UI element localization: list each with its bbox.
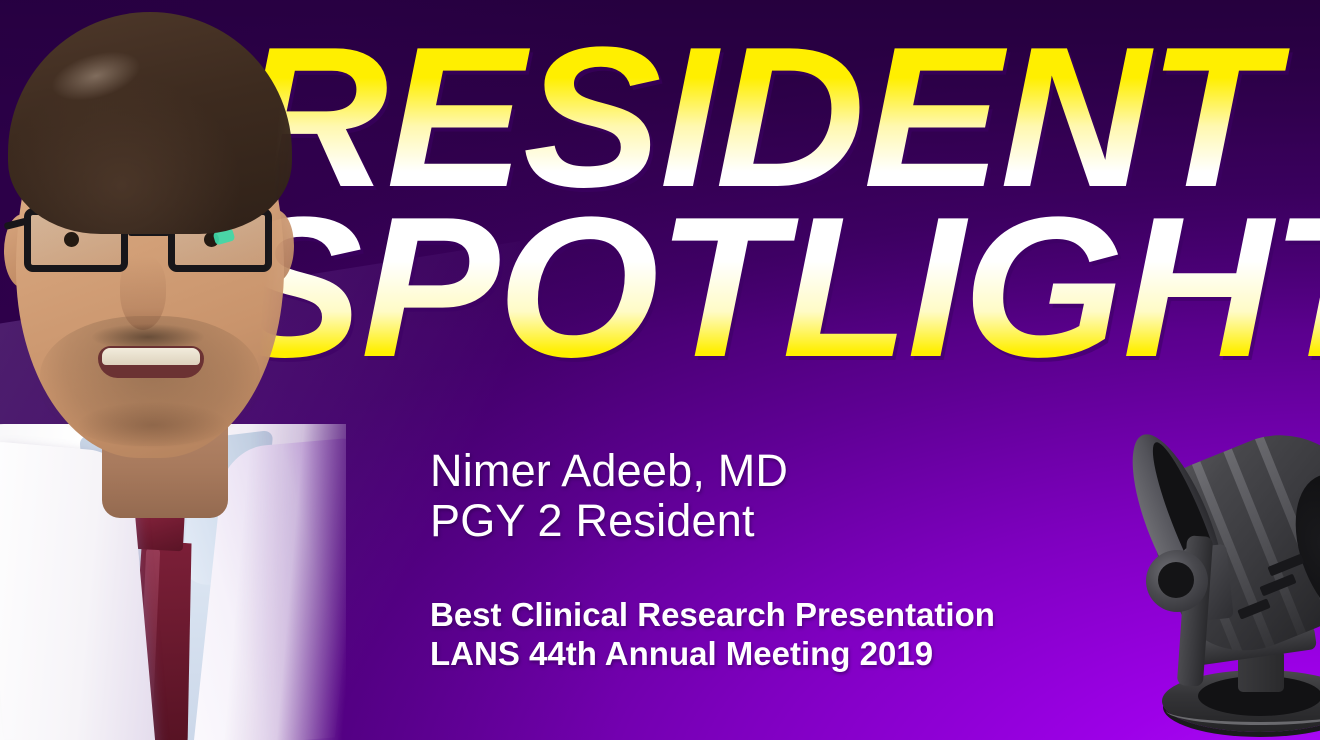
award-block: Best Clinical Research Presentation LANS…	[430, 595, 995, 674]
resident-spotlight-poster: RESIDENT SPOTLIGHT Nimer Adeeb, MD PGY 2…	[0, 0, 1320, 740]
stage-spotlight-icon	[1152, 424, 1320, 740]
details-block: Nimer Adeeb, MD PGY 2 Resident Best Clin…	[430, 446, 995, 674]
hair	[8, 12, 292, 234]
teeth	[102, 348, 200, 365]
spotlight-tilt-knob-inner	[1158, 562, 1194, 598]
eye-left	[64, 232, 79, 247]
award-line-1: Best Clinical Research Presentation	[430, 595, 995, 635]
mouth	[98, 346, 204, 378]
chin-shadow	[78, 402, 228, 448]
portrait-photo	[0, 0, 346, 740]
portrait-fade-mask	[0, 0, 346, 740]
person-role: PGY 2 Resident	[430, 496, 995, 546]
award-line-2: LANS 44th Annual Meeting 2019	[430, 634, 995, 674]
person-name: Nimer Adeeb, MD	[430, 446, 995, 496]
